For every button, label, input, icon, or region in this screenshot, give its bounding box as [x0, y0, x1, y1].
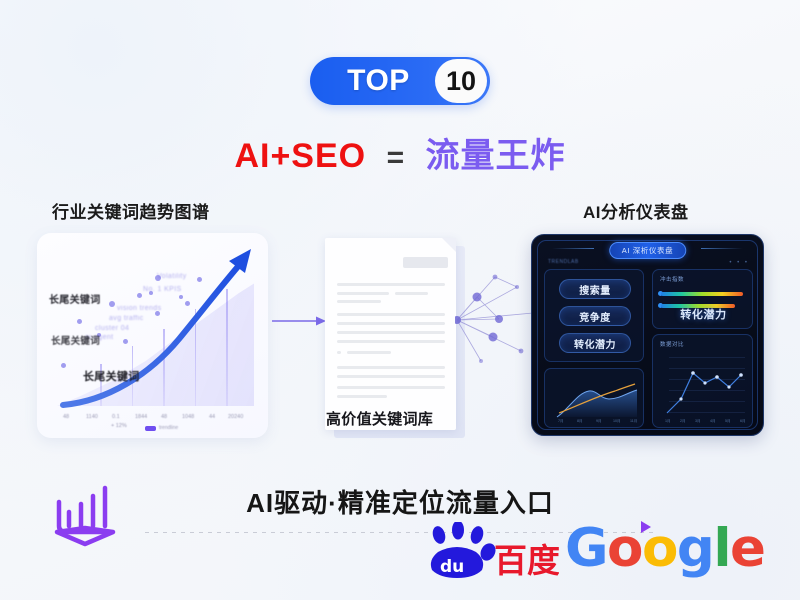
baidu-logo: du 百度 [424, 522, 559, 580]
panel-title: 冲击指数 [660, 275, 684, 283]
keyword-trend-card: Volatility No. 1 KPIS vision trends avg … [37, 233, 268, 438]
title-left: AI+SEO [234, 137, 366, 175]
trend-area-panel: 7月 8月 9月 10月 11月 [544, 368, 644, 428]
badge-number: 10 [435, 59, 487, 103]
legend-swatch [145, 426, 156, 431]
keyword-label: 长尾关键词 [83, 368, 140, 384]
scatter-dot [109, 301, 115, 307]
scatter-dot [185, 301, 190, 306]
scatter-dot [137, 293, 142, 298]
dashboard-brand: TRENDLAB [548, 259, 579, 265]
axis-tick: 2月 [680, 419, 686, 424]
ghost-word: avg traffic [109, 315, 144, 322]
metrics-panel: 搜索量 竞争度 转化潜力 [544, 269, 644, 362]
bar-chart-icon [45, 482, 125, 548]
metric-pill-conversion[interactable]: 转化潜力 [559, 333, 631, 353]
axis-tick: 10月 [613, 419, 621, 424]
header-accent-left [552, 248, 594, 249]
svg-text:du: du [440, 557, 464, 577]
svg-text:百度: 百度 [494, 541, 559, 580]
google-letter: l [713, 518, 730, 579]
axis-tick: 9月 [596, 419, 602, 424]
axis-tick: 1048 [182, 414, 194, 420]
ghost-word: Volatility [157, 273, 187, 280]
data-comparison-panel: 数据对比 1月 2月 3月 4月 5月 6月 [652, 334, 753, 428]
ghost-word: No. 1 KPIS [143, 286, 182, 293]
scatter-dot [123, 339, 128, 344]
google-letter: e [730, 518, 764, 579]
keyword-label: 长尾关键词 [51, 333, 100, 347]
google-letter: g [677, 518, 713, 579]
google-logo: Google [565, 518, 764, 579]
metric-pill-competition[interactable]: 竞争度 [559, 306, 631, 326]
google-letter: o [607, 518, 642, 579]
axis-tick: 3月 [695, 419, 701, 424]
panel-overlay-label: 转化潜力 [653, 306, 754, 322]
scatter-dot [77, 319, 82, 324]
axis-tick: 8月 [577, 419, 583, 424]
metric-pill-search-volume[interactable]: 搜索量 [559, 279, 631, 299]
axis-tick: 48 [63, 414, 69, 420]
axis-tick: 48 [161, 414, 167, 420]
ghost-word: cluster 04 [95, 325, 129, 332]
axis-tick: 1140 [86, 414, 98, 420]
dashboard-title-badge: AI 深析仪表盘 [609, 242, 686, 259]
axis-tick: 6月 [740, 419, 746, 424]
network-graph-icon [455, 265, 535, 375]
scatter-dot [61, 363, 66, 368]
axis-tick: 44 [209, 414, 215, 420]
impact-index-panel: 冲击指数 转化潜力 [652, 269, 753, 329]
ghost-word: vision trends [117, 305, 162, 312]
badge-word: TOP [310, 64, 435, 98]
axis-tick: 7月 [558, 419, 564, 424]
section-header-left: 行业关键词趋势图谱 [52, 198, 210, 223]
keyword-library-document: 高价值关键词库 [325, 238, 465, 438]
flow-arrow-icon [272, 316, 326, 326]
axis-note: + 12% [111, 423, 127, 429]
axis-tick: 20240 [228, 414, 243, 420]
axis-tick: 0.1 [112, 414, 120, 420]
document-caption: 高价值关键词库 [326, 408, 466, 429]
trend-chart-graphic: Volatility No. 1 KPIS vision trends avg … [37, 233, 268, 438]
axis-tick: 5月 [725, 419, 731, 424]
title-right: 流量王炸 [426, 137, 566, 175]
dashboard-menu-icon[interactable]: • • • [729, 260, 749, 266]
title-equals: = [387, 141, 406, 174]
comparison-line-chart [653, 335, 754, 429]
scatter-dot [179, 295, 183, 299]
axis-tick: 1月 [665, 419, 671, 424]
axis-tick: 11月 [630, 419, 637, 424]
top-rank-badge: TOP 10 [310, 57, 490, 105]
axis-tick: 1844 [135, 414, 147, 420]
google-letter: G [565, 518, 607, 579]
axis-tick: 4月 [710, 419, 716, 424]
google-letter: o [642, 518, 677, 579]
chart-legend: trendline [145, 425, 178, 431]
gradient-bar [661, 292, 743, 296]
keyword-label: 长尾关键词 [49, 291, 101, 306]
section-header-right: AI分析仪表盘 [583, 198, 689, 223]
legend-label: trendline [159, 425, 178, 431]
scatter-dot [197, 277, 202, 282]
ai-dashboard: AI 深析仪表盘 TRENDLAB • • • 搜索量 竞争度 转化潜力 冲击指… [531, 234, 764, 436]
document-page [325, 238, 456, 430]
document-header-block [403, 257, 448, 268]
page-title: AI+SEO = 流量王炸 [0, 128, 800, 177]
header-accent-right [701, 248, 743, 249]
